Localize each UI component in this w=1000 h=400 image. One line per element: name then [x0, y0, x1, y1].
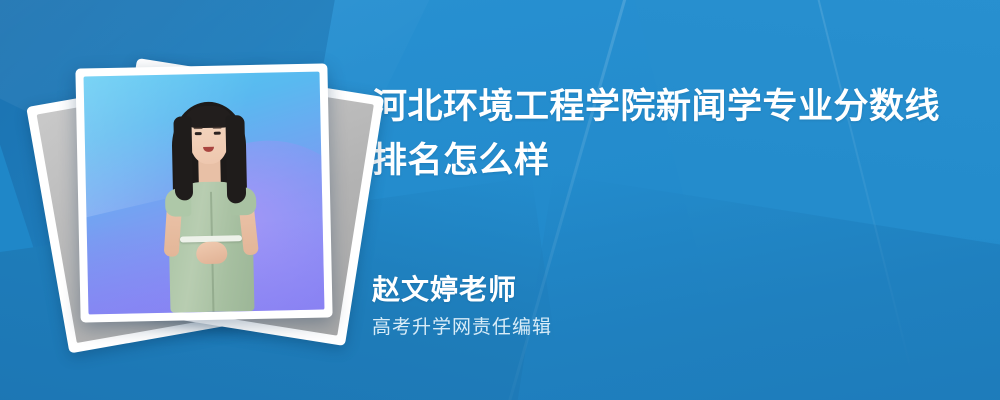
figure-eyebrow-right: [213, 127, 222, 129]
author-figure: [133, 94, 287, 313]
figure-hair-left: [173, 116, 193, 200]
article-header-banner: 河北环境工程学院新闻学专业分数线排名怎么样 赵文婷老师 高考升学网责任编辑: [0, 0, 1000, 400]
author-block: 赵文婷老师 高考升学网责任编辑: [372, 272, 552, 341]
figure-eyebrow-left: [194, 127, 203, 129]
headline-block: 河北环境工程学院新闻学专业分数线排名怎么样: [372, 80, 972, 188]
figure-hands: [196, 242, 227, 265]
photo-card-front: [75, 63, 332, 322]
photo-card-stack: [78, 66, 330, 320]
author-role: 高考升学网责任编辑: [372, 315, 552, 341]
figure-hair-right: [225, 115, 246, 203]
figure-eye-right: [214, 132, 221, 135]
author-name: 赵文婷老师: [372, 272, 552, 308]
author-photo: [84, 72, 325, 315]
figure-eye-left: [195, 132, 202, 135]
page-title: 河北环境工程学院新闻学专业分数线排名怎么样: [372, 80, 952, 188]
